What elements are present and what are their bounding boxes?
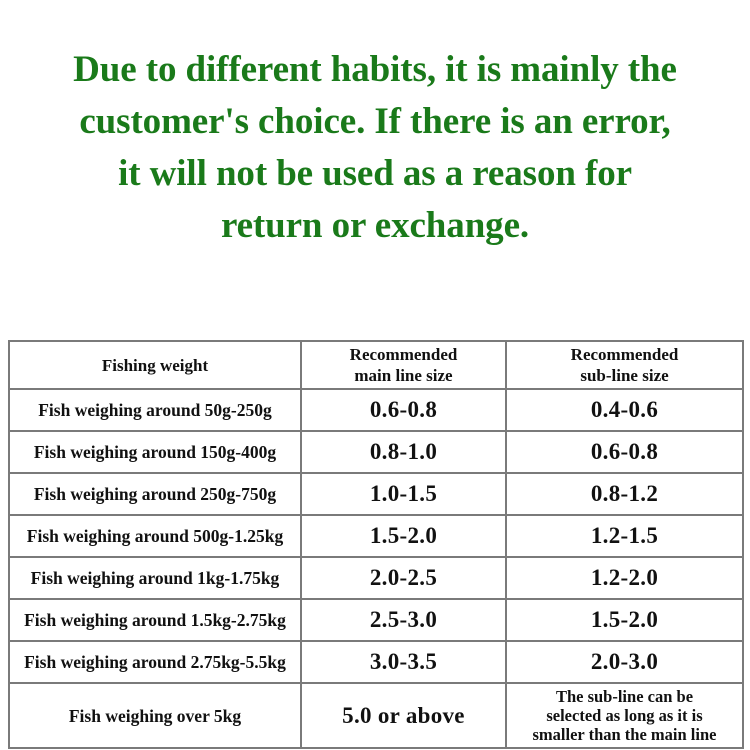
cell-main-line-size: 0.6-0.8 [301,389,506,431]
heading-line-4: return or exchange. [0,200,750,252]
cell-sub-line-note-line-3: smaller than the main line [511,725,738,744]
cell-sub-line-size: 2.0-3.0 [506,641,743,683]
cell-main-line-size: 5.0 or above [301,683,506,748]
heading-line-1: Due to different habits, it is mainly th… [0,44,750,96]
cell-main-line-size: 3.0-3.5 [301,641,506,683]
disclaimer-heading: Due to different habits, it is mainly th… [0,44,750,252]
cell-main-line-size: 1.5-2.0 [301,515,506,557]
cell-sub-line-size: 1.2-2.0 [506,557,743,599]
table-row: Fish weighing around 150g-400g 0.8-1.0 0… [9,431,743,473]
cell-sub-line-size: 0.4-0.6 [506,389,743,431]
cell-sub-line-size: 1.2-1.5 [506,515,743,557]
cell-main-line-size: 2.5-3.0 [301,599,506,641]
cell-main-line-size: 2.0-2.5 [301,557,506,599]
header-fishing-weight-line-1: Fishing weight [14,355,296,376]
cell-fishing-weight: Fish weighing around 1kg-1.75kg [9,557,301,599]
header-main-line-size-line-2: main line size [306,365,501,386]
cell-sub-line-size: 0.6-0.8 [506,431,743,473]
header-sub-line-size-line-2: sub-line size [511,365,738,386]
cell-fishing-weight: Fish weighing around 500g-1.25kg [9,515,301,557]
cell-main-line-size: 0.8-1.0 [301,431,506,473]
table-header-row: Fishing weight Recommended main line siz… [9,341,743,389]
header-sub-line-size: Recommended sub-line size [506,341,743,389]
table-row: Fish weighing around 250g-750g 1.0-1.5 0… [9,473,743,515]
cell-fishing-weight: Fish weighing around 1.5kg-2.75kg [9,599,301,641]
table-row: Fish weighing around 50g-250g 0.6-0.8 0.… [9,389,743,431]
table-row: Fish weighing over 5kg 5.0 or above The … [9,683,743,748]
header-sub-line-size-line-1: Recommended [511,344,738,365]
cell-sub-line-size: The sub-line can be selected as long as … [506,683,743,748]
line-size-table-container: Fishing weight Recommended main line siz… [8,340,742,749]
cell-sub-line-note-line-2: selected as long as it is [511,706,738,725]
header-main-line-size-line-1: Recommended [306,344,501,365]
cell-fishing-weight: Fish weighing over 5kg [9,683,301,748]
cell-fishing-weight: Fish weighing around 2.75kg-5.5kg [9,641,301,683]
cell-fishing-weight: Fish weighing around 150g-400g [9,431,301,473]
cell-sub-line-size: 0.8-1.2 [506,473,743,515]
cell-main-line-size: 1.0-1.5 [301,473,506,515]
heading-line-2: customer's choice. If there is an error, [0,96,750,148]
line-size-recommendation-table: Fishing weight Recommended main line siz… [8,340,744,749]
table-row: Fish weighing around 1.5kg-2.75kg 2.5-3.… [9,599,743,641]
cell-sub-line-note-line-1: The sub-line can be [511,687,738,706]
cell-fishing-weight: Fish weighing around 50g-250g [9,389,301,431]
header-fishing-weight: Fishing weight [9,341,301,389]
heading-line-3: it will not be used as a reason for [0,148,750,200]
table-row: Fish weighing around 1kg-1.75kg 2.0-2.5 … [9,557,743,599]
table-row: Fish weighing around 500g-1.25kg 1.5-2.0… [9,515,743,557]
table-row: Fish weighing around 2.75kg-5.5kg 3.0-3.… [9,641,743,683]
cell-fishing-weight: Fish weighing around 250g-750g [9,473,301,515]
header-main-line-size: Recommended main line size [301,341,506,389]
cell-sub-line-size: 1.5-2.0 [506,599,743,641]
